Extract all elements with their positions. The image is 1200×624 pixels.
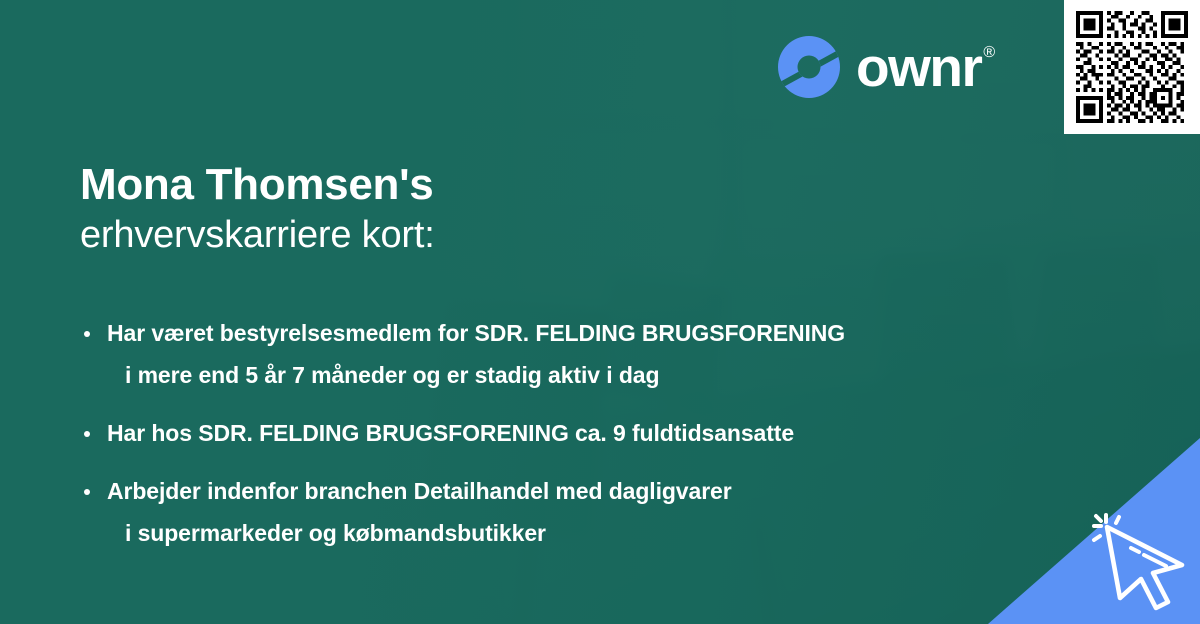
page-title: Mona Thomsen's bbox=[80, 160, 433, 210]
qr-code[interactable] bbox=[1064, 0, 1200, 134]
click-cursor-icon bbox=[1090, 512, 1194, 616]
bullet-dot-icon bbox=[84, 331, 90, 337]
blue-corner-decoration bbox=[988, 438, 1200, 624]
ownr-circle-logo-icon bbox=[778, 36, 840, 98]
ownr-logo[interactable]: ownr ® bbox=[778, 36, 994, 98]
bullet-dot-icon bbox=[84, 489, 90, 495]
list-item-line: Har været bestyrelsesmedlem for SDR. FEL… bbox=[107, 312, 1000, 354]
list-item-line: Har hos SDR. FELDING BRUGSFORENING ca. 9… bbox=[107, 412, 1000, 454]
list-item: Arbejder indenfor branchen Detailhandel … bbox=[80, 470, 1000, 554]
bullet-dot-icon bbox=[84, 431, 90, 437]
ownr-career-card: ownr ® bbox=[0, 0, 1200, 624]
list-item: Har været bestyrelsesmedlem for SDR. FEL… bbox=[80, 312, 1000, 396]
list-item-line: Arbejder indenfor branchen Detailhandel … bbox=[107, 470, 1000, 512]
career-facts-list: Har været bestyrelsesmedlem for SDR. FEL… bbox=[80, 312, 1000, 570]
list-item-line: i supermarkeder og købmandsbutikker bbox=[107, 512, 1000, 554]
list-item-line: i mere end 5 år 7 måneder og er stadig a… bbox=[107, 354, 1000, 396]
page-subtitle: erhvervskarriere kort: bbox=[80, 214, 435, 257]
ownr-wordmark: ownr bbox=[856, 41, 981, 93]
list-item: Har hos SDR. FELDING BRUGSFORENING ca. 9… bbox=[80, 412, 1000, 454]
registered-trademark-icon: ® bbox=[983, 45, 993, 61]
qr-code-icon bbox=[1076, 11, 1188, 123]
